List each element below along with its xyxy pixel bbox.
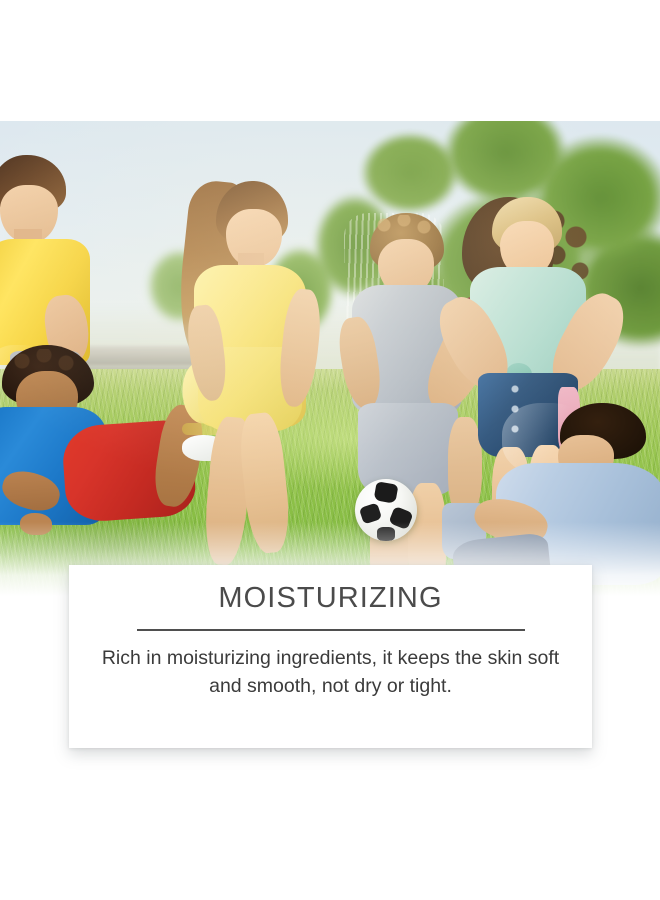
ball-panel [377,527,395,541]
title-divider [137,629,525,631]
right-leg [237,411,293,555]
lifestyle-photo [0,121,660,596]
child-girl-yellow-dress [182,181,342,596]
photo-scene [0,121,660,596]
soccer-ball [355,479,417,541]
ball-panel [374,481,399,504]
ball-panel [359,502,382,524]
card-title: MOISTURIZING [218,583,442,615]
ball-panel [388,506,413,530]
feature-text-card: MOISTURIZING Rich in moisturizing ingred… [69,565,592,748]
card-body-text: Rich in moisturizing ingredients, it kee… [101,645,561,700]
foot [20,513,52,535]
product-feature-page: MOISTURIZING Rich in moisturizing ingred… [0,0,660,900]
